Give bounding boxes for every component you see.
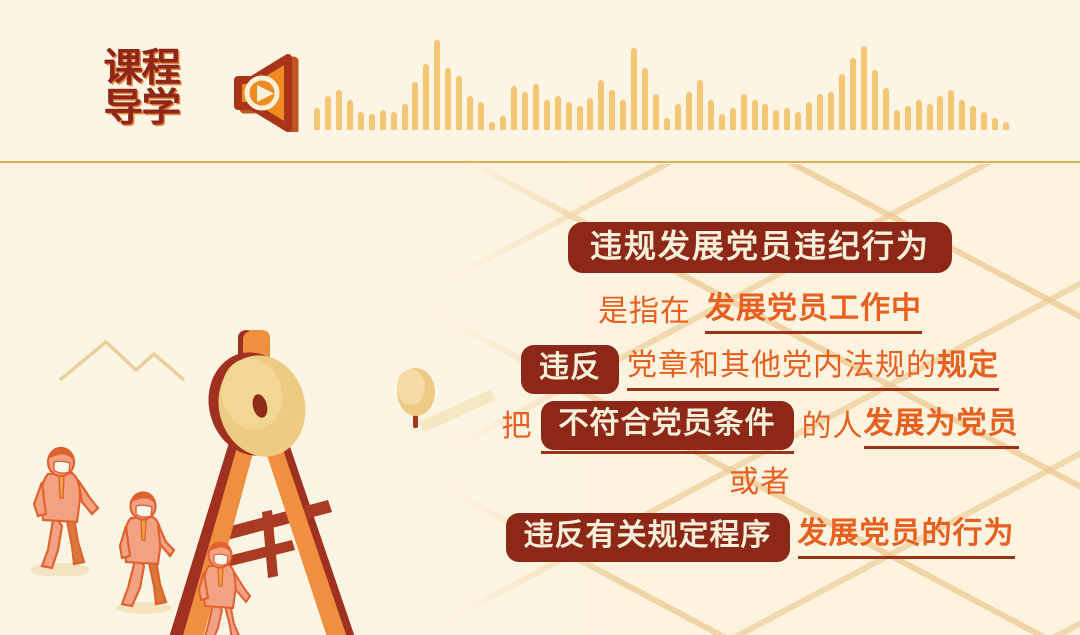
waveform-bar	[423, 64, 429, 130]
waveform-bar	[762, 104, 768, 130]
definition-line-5: 或者	[460, 460, 1060, 506]
waveform-bar	[489, 122, 495, 130]
definition-line-6: 违反有关规定程序 发展党员的行为	[460, 512, 1060, 562]
waveform-bar	[620, 100, 626, 130]
waveform-bar	[598, 80, 604, 130]
waveform-bar	[916, 100, 922, 130]
header-bar: 课程 导学	[0, 0, 1080, 163]
waveform-bar	[948, 90, 954, 130]
walking-person-3	[192, 540, 258, 635]
waveform-bar	[686, 92, 692, 130]
line2-emphasis: 发展党员工作中	[705, 290, 922, 334]
waveform-bar	[434, 40, 440, 130]
course-guide-logo: 课程 导学	[104, 48, 200, 130]
line4-mid: 的人	[802, 408, 864, 446]
waveform-bar	[741, 94, 747, 130]
waveform-bar	[587, 98, 593, 130]
waveform-bar	[369, 114, 375, 130]
line3-plain: 党章和其他党内法规的	[627, 347, 937, 391]
waveform-bar	[533, 84, 539, 130]
waveform-bar	[773, 110, 779, 130]
waveform-bar	[959, 100, 965, 130]
line3-pill: 违反	[521, 345, 619, 394]
logo-line-1: 课程	[104, 48, 200, 89]
definition-text-panel: 违规发展党员违纪行为 是指在 发展党员工作中 违反 党章和其他党内法规的 规定 …	[460, 220, 1060, 600]
waveform-bar	[631, 48, 637, 130]
line4-pill: 不符合党员条件	[541, 401, 794, 450]
waveform-bar	[577, 106, 583, 130]
waveform-bar	[970, 106, 976, 130]
waveform-bar	[784, 108, 790, 130]
waveform-bar	[347, 100, 353, 130]
poster-canvas: 课程 导学	[0, 0, 1080, 635]
waveform-bar	[544, 100, 550, 130]
definition-title-row: 违规发展党员违纪行为	[460, 220, 1060, 274]
waveform-bar	[391, 112, 397, 130]
line5-text: 或者	[729, 464, 791, 502]
logo-line-2: 导学	[104, 88, 200, 129]
waveform-bar	[850, 58, 856, 130]
waveform-bar	[664, 118, 670, 130]
waveform-bar	[806, 102, 812, 130]
waveform-bar	[456, 76, 462, 130]
waveform-bar	[609, 90, 615, 130]
waveform-bar	[719, 114, 725, 130]
waveform-bar	[905, 106, 911, 130]
waveform-bar	[642, 68, 648, 130]
waveform-bar	[981, 112, 987, 130]
waveform-bar	[675, 104, 681, 130]
waveform-bar	[445, 68, 451, 130]
definition-title: 违规发展党员违纪行为	[568, 222, 952, 273]
waveform-bar	[883, 88, 889, 130]
waveform-bar	[522, 92, 528, 130]
waveform-bar	[500, 116, 506, 130]
waveform-bar	[380, 110, 386, 130]
waveform-bar	[839, 74, 845, 130]
waveform-bar	[730, 108, 736, 130]
walking-person-2	[112, 490, 186, 614]
main-content: 发 展 党 员 违规发展党员违纪行为 是指在 发展党员工作中 违反 党章和其他党…	[0, 164, 1080, 635]
waveform-bar	[555, 96, 561, 130]
definition-line-2: 是指在 发展党员工作中	[460, 288, 1060, 336]
waveform-bar	[653, 94, 659, 130]
line6-pill: 违反有关规定程序	[506, 513, 790, 562]
waveform-bar	[511, 86, 517, 130]
waveform-bar	[467, 96, 473, 130]
line6-emphasis: 发展党员的行为	[798, 515, 1015, 559]
waveform-bar	[927, 104, 933, 130]
waveform-bar	[992, 118, 998, 130]
waveform-bar	[314, 108, 320, 130]
waveform-bar	[412, 82, 418, 130]
waveform-bar	[358, 112, 364, 130]
waveform-bar	[402, 104, 408, 130]
waveform-bar	[894, 110, 900, 130]
line2-plain: 是指在	[598, 293, 691, 331]
waveform-bar	[937, 96, 943, 130]
megaphone-play-icon[interactable]	[222, 50, 300, 132]
waveform-bar	[861, 46, 867, 130]
header-divider	[0, 161, 1080, 163]
waveform-bar	[478, 102, 484, 130]
waveform-bar	[566, 102, 572, 130]
waveform-bar	[325, 96, 331, 130]
line3-emphasis: 规定	[937, 347, 999, 391]
waveform-bar	[1003, 122, 1009, 130]
waveform-bar	[795, 112, 801, 130]
waveform-bar	[872, 70, 878, 130]
line4-pill-wrap: 不符合党员条件	[541, 401, 794, 454]
walking-person-1	[28, 446, 106, 576]
waveform-bar	[752, 100, 758, 130]
waveform-bar	[697, 80, 703, 130]
line4-emphasis: 发展为党员	[864, 405, 1019, 449]
definition-line-4: 把 不符合党员条件 的人 发展为党员	[460, 402, 1060, 452]
definition-line-3: 违反 党章和其他党内法规的 规定	[460, 344, 1060, 394]
waveform-bar	[708, 100, 714, 130]
waveform-bar	[828, 92, 834, 130]
audio-waveform[interactable]	[314, 18, 1014, 130]
waveform-bar	[817, 94, 823, 130]
line4-prefix: 把	[502, 408, 533, 446]
waveform-bar	[336, 90, 342, 130]
